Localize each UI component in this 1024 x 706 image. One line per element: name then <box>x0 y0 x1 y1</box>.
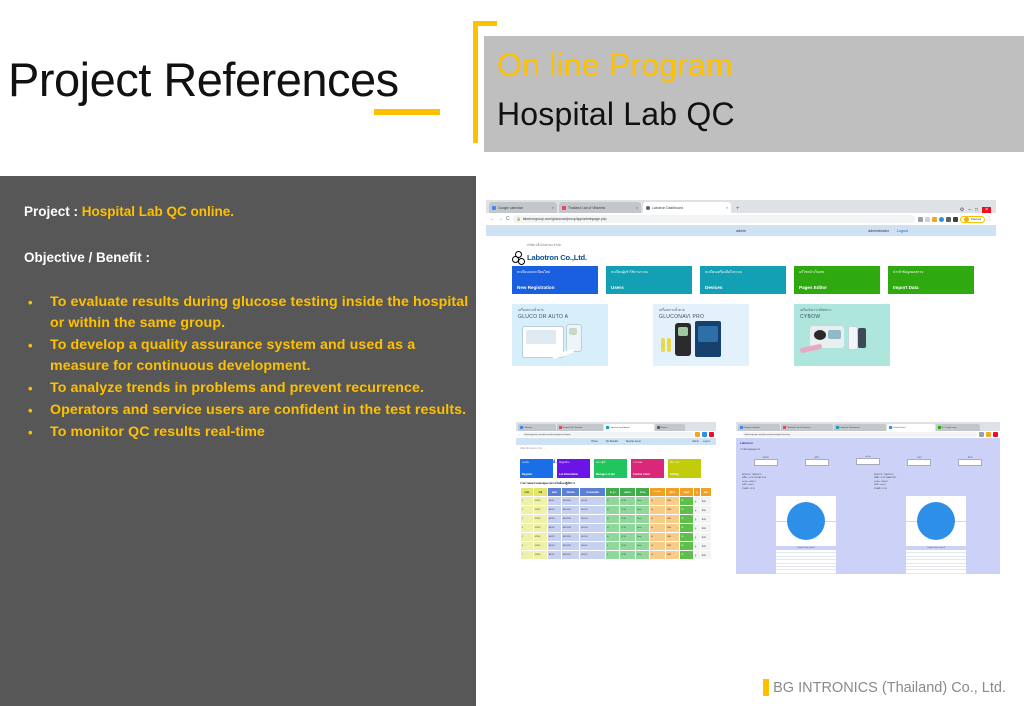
product-image <box>512 320 608 366</box>
logo-thai-name: บริษัท แล็บโบตรอน จำกัด <box>520 447 557 450</box>
browser-tab[interactable]: Hospital QC Results <box>557 424 603 431</box>
product-label: CYBOW <box>794 313 890 320</box>
bullet-text: To analyze trends in problems and preven… <box>50 380 424 396</box>
product-label: GLUCONAVI PRO <box>653 313 749 320</box>
table-cell: 12.55 <box>620 506 636 515</box>
table-cell: A <box>650 533 666 542</box>
window-controls: ⚙ – □ × <box>960 207 993 213</box>
filter-fields: เดือน/ปี เครื่อง Lot No. ระดับ ค้นหา <box>740 456 996 466</box>
table-cell: B02-03 <box>580 515 606 524</box>
filter-month-field[interactable]: เดือน/ปี <box>754 456 778 466</box>
table-header-cell: ลำดับ <box>521 488 534 497</box>
objective-label: Objective / Benefit : <box>24 250 150 265</box>
product-card-gluconavi[interactable]: เครื่องตรวจน้ำตาล GLUCONAVI PRO <box>653 304 749 366</box>
tile-thai-label: จัดการผู้ใช้ <box>596 461 625 464</box>
button-label: New Registration <box>517 285 593 290</box>
table-cell: 2/2565 <box>533 506 547 515</box>
bullet-dot: • <box>28 335 33 356</box>
table-cell: OK <box>679 542 693 551</box>
bullet-text: To monitor QC results real-time <box>50 424 265 440</box>
share-icon[interactable] <box>918 217 923 222</box>
chart-data-blob <box>787 502 825 540</box>
extension-icon[interactable] <box>695 432 700 437</box>
table-cell: A0206 <box>547 542 561 551</box>
nav-item-qc-results[interactable]: QC Results <box>606 440 618 443</box>
footer-accent-bar <box>763 679 769 696</box>
tab-label: Labotron <box>524 427 533 429</box>
view-button[interactable]: ดู <box>693 506 700 515</box>
screenshot-qc-results: Labotron Hospital QC Results Labotron Da… <box>516 422 716 574</box>
tab-label: Labotron Dashboard <box>652 206 683 210</box>
bullet-dot: • <box>28 292 33 313</box>
table-header-row: ลำดับ วันที่ เครื่อง รหัสเครื่อง หมายเลข… <box>521 488 712 497</box>
table-row: 5 2/2565 A0205 B02/3195 B02-05 H 12.55 P… <box>521 533 712 542</box>
print-button[interactable]: พิมพ์ <box>700 515 711 524</box>
product-thai-label: เครื่องตรวจน้ำตาล <box>512 304 608 313</box>
list-item: •To evaluate results during glucose test… <box>20 292 470 334</box>
table-cell: Pass <box>636 497 650 506</box>
reload-icon[interactable]: C <box>506 216 510 222</box>
nav-user-label: admin <box>692 440 699 443</box>
view-button[interactable]: ดู <box>693 542 700 551</box>
field-input[interactable] <box>754 459 778 466</box>
table-cell: B02/3192 <box>561 506 580 515</box>
tile-thai-label: ตั้งค่าระบบ <box>670 461 699 464</box>
button-label: Import Data <box>893 285 969 290</box>
favicon-icon <box>740 426 743 429</box>
screenshot-control-chart: Google calendar Thailand Lab of Vitamins… <box>736 422 1000 574</box>
print-button[interactable]: พิมพ์ <box>700 533 711 542</box>
nav-item-home[interactable]: Home <box>591 440 597 443</box>
product-image <box>653 320 749 366</box>
button-label: Pages Editor <box>799 285 875 290</box>
button-thai-label: ทะเบียนเครื่องมือในระบบ <box>705 270 781 275</box>
table-cell: H <box>606 524 620 533</box>
project-value: Hospital Lab QC online. <box>82 204 234 219</box>
close-icon[interactable]: × <box>552 206 554 210</box>
table-cell: 12.55 <box>620 524 636 533</box>
table-header-cell: พิมพ์ <box>700 488 711 497</box>
table-cell: A0204 <box>547 524 561 533</box>
tile-control-chart[interactable]: รายงานผลControl Chart <box>631 459 664 478</box>
profile-label: Paused <box>971 217 981 221</box>
table-cell: 6 <box>521 542 534 551</box>
table-cell: A <box>650 551 666 560</box>
browser-tab[interactable]: Google calendar × <box>489 202 557 213</box>
info-line: ค่าเฉลี่ย : 12.55 <box>742 488 766 491</box>
table-cell: B02-06 <box>580 542 606 551</box>
tab-label: Google calendar <box>744 427 760 429</box>
table-header-cell: หมายเลขเครื่อง <box>580 488 606 497</box>
chart-info-right: หน่วยงาน : โรงพยาบาล เครื่อง : GLUCONAVI… <box>874 474 896 491</box>
forward-icon[interactable]: → <box>498 216 503 222</box>
table-cell: 12.10 <box>620 542 636 551</box>
filter-device-field[interactable]: เครื่อง <box>805 456 829 466</box>
favicon-icon <box>562 206 566 210</box>
site-nav-bar: Home QC Results Devices & Lot admin Logo… <box>516 438 716 445</box>
tab-label: QC Graph view <box>942 427 957 429</box>
tile-label: Lot Information <box>559 473 588 476</box>
extension-icons: Paused ⋮ <box>918 216 992 223</box>
table-cell: H <box>606 506 620 515</box>
bullet-dot: • <box>28 378 33 399</box>
new-registration-button[interactable]: ทะเบียนลงทะเบียนใหม่ New Registration <box>512 266 598 294</box>
logo-name: Labotron Co.,Ltd. <box>527 253 587 262</box>
labotron-logo: บริษัท แล็บโบตรอน จำกัด Labotron Co.,Ltd… <box>512 244 587 264</box>
table-row: 2 2/2565 A0202 B02/3192 B02-02 H 12.55 P… <box>521 506 712 515</box>
chart-data-table <box>776 550 836 574</box>
browser-tab[interactable]: Report <box>655 424 685 431</box>
favicon-icon <box>889 426 892 429</box>
table-header-cell: ผลสรุป <box>679 488 693 497</box>
footer: BG INTRONICS (Thailand) Co., Ltd. <box>763 679 1006 696</box>
button-label: Users <box>611 285 687 290</box>
admin-action-buttons: ทะเบียนลงทะเบียนใหม่ New Registration ทะ… <box>512 266 974 294</box>
button-thai-label: ทะเบียนผู้เข้าใช้งานระบบ <box>611 270 687 275</box>
close-icon[interactable]: × <box>726 206 728 210</box>
tab-label: Thailand Lab of Vitamins <box>568 206 605 210</box>
browser-tab[interactable]: Thailand Lab of Vitamins <box>781 424 833 431</box>
admin-bar-center-label: admin <box>486 229 996 233</box>
maximize-button[interactable]: □ <box>975 207 978 213</box>
table-cell: Pass <box>636 551 650 560</box>
view-button[interactable]: ดู <box>693 533 700 542</box>
table-cell: 2/2565 <box>533 551 547 560</box>
address-bar[interactable]: labotrongroup.com/gluconavi/proxy/app/re… <box>522 432 693 437</box>
search-button[interactable]: ค้นหา <box>958 456 982 466</box>
browser-tabbar: Labotron Hospital QC Results Labotron Da… <box>516 422 716 431</box>
bullet-text: To evaluate results during glucose testi… <box>50 294 468 331</box>
site-admin-bar: admin administrator Logout <box>486 225 996 236</box>
field-input[interactable] <box>856 458 880 465</box>
favicon-icon <box>646 206 650 210</box>
tile-setting[interactable]: ตั้งค่าระบบSetting <box>668 459 701 478</box>
product-thai-label: เครื่องวิเคราะห์ปัสสาวะ <box>794 304 890 313</box>
extension-icon[interactable] <box>702 432 707 437</box>
tile-label: Manage Lot QC <box>596 473 625 476</box>
table-cell: 1 <box>521 497 534 506</box>
tile-label: Control Chart <box>633 473 662 476</box>
admin-user-label: administrator <box>868 229 889 233</box>
table-cell: A <box>650 524 666 533</box>
browser-tab[interactable]: Labotron <box>518 424 556 431</box>
print-button[interactable]: พิมพ์ <box>700 506 711 515</box>
left-content-panel: Project : Hospital Lab QC online. Object… <box>0 176 476 706</box>
tile-thai-label: ทะเบียน <box>522 461 551 464</box>
browser-tab-active[interactable]: Labotron Dashboard <box>604 424 654 431</box>
table-row: 7 2/2565 A0207 B02/3197 B02-07 L 12.47 P… <box>521 551 712 560</box>
table-cell: B02-05 <box>580 533 606 542</box>
table-cell: 12.55 <box>620 533 636 542</box>
field-input[interactable] <box>958 459 982 466</box>
star-icon[interactable] <box>925 217 930 222</box>
new-tab-button[interactable]: + <box>733 206 743 213</box>
table-cell: 2/2565 <box>533 533 547 542</box>
table-header-cell: ค่า QC <box>606 488 620 497</box>
back-icon[interactable]: ← <box>490 216 495 222</box>
tile-thai-label: รายงานผล <box>633 461 662 464</box>
import-data-button[interactable]: นำเข้าข้อมูลผลตรวจ Import Data <box>888 266 974 294</box>
table-title: รายการผลตรวจสอบคุณภาพภายในห้องปฏิบัติการ <box>520 482 575 486</box>
favicon-icon <box>606 426 609 429</box>
labotron-mark-icon <box>512 251 525 264</box>
address-bar[interactable]: 🔒 labotrongroup.com/gluconavi/proxy/app/… <box>513 215 915 223</box>
tab-label: Labotron Dashboard <box>610 427 630 429</box>
button-thai-label: แก้ไขหน้าเว็บเพจ <box>799 270 875 275</box>
table-cell: OK <box>679 515 693 524</box>
field-input[interactable] <box>907 459 931 466</box>
chart-plot-area <box>776 496 836 546</box>
page-title: Project References <box>8 56 399 103</box>
nav-item-devices[interactable]: Devices & Lot <box>626 440 641 443</box>
browser-tab-active[interactable]: Control Chart <box>887 424 935 431</box>
filter-lot-field[interactable]: Lot No. <box>856 456 880 466</box>
print-button[interactable]: พิมพ์ <box>700 551 711 560</box>
browser-tab[interactable]: Labotron Dashboard <box>834 424 886 431</box>
table-cell: Pass <box>636 515 650 524</box>
table-cell: A <box>650 515 666 524</box>
table-cell: A <box>650 497 666 506</box>
table-cell: L <box>606 551 620 560</box>
qc-tile-row: ทะเบียนRegister ข้อมูลเครื่องLot Informa… <box>520 459 701 478</box>
extension-icon[interactable] <box>986 432 991 437</box>
minimize-button[interactable]: – <box>968 207 971 213</box>
table-cell: 2565 <box>665 542 679 551</box>
list-item: •Operators and service users are confide… <box>20 400 470 421</box>
table-cell: H <box>606 497 620 506</box>
header-subtitle: On line Program <box>497 47 733 84</box>
tile-label: Register <box>522 473 551 476</box>
table-cell: A <box>650 506 666 515</box>
url-text: labotrongroup.com/gluconavi/proxy/app/re… <box>524 434 570 436</box>
qc-results-page-body: บริษัท แล็บโบตรอน จำกัด Labotron Co.,Ltd… <box>516 445 716 574</box>
tile-manage-lot-qc[interactable]: จัดการผู้ใช้Manage Lot QC <box>594 459 627 478</box>
button-label: Devices <box>705 285 781 290</box>
devices-button[interactable]: ทะเบียนเครื่องมือในระบบ Devices <box>700 266 786 294</box>
table-cell: 2565 <box>665 515 679 524</box>
url-text: labotrongroup.com/gluconavi/proxy/app/ch… <box>744 434 790 436</box>
filter-level-field[interactable]: ระดับ <box>907 456 931 466</box>
table-cell: B02-01 <box>580 497 606 506</box>
table-cell: 4 <box>521 524 534 533</box>
browser-tab[interactable]: Google calendar <box>738 424 780 431</box>
qc-results-table: ลำดับ วันที่ เครื่อง รหัสเครื่อง หมายเลข… <box>520 487 712 560</box>
view-button[interactable]: ดู <box>693 551 700 560</box>
table-cell: A0203 <box>547 515 561 524</box>
table-cell: Pass <box>636 542 650 551</box>
favicon-icon <box>836 426 839 429</box>
table-cell: 2565 <box>665 497 679 506</box>
table-header-cell: ผู้ตรวจ <box>665 488 679 497</box>
browser-tab-active[interactable]: Labotron Dashboard × <box>643 202 731 213</box>
tile-thai-label: ข้อมูลเครื่อง <box>559 461 588 464</box>
table-cell: Pass <box>636 506 650 515</box>
view-button[interactable]: ดู <box>693 524 700 533</box>
favicon-icon <box>938 426 941 429</box>
nav-right: admin Logout <box>692 440 710 443</box>
favicon-icon <box>520 426 523 429</box>
table-cell: 2565 <box>665 551 679 560</box>
table-cell: 2565 <box>665 533 679 542</box>
browser-tab[interactable]: Thailand Lab of Vitamins × <box>559 202 641 213</box>
admin-page-body: บริษัท แล็บโบตรอน จำกัด Labotron Co.,Ltd… <box>486 236 996 386</box>
table-cell: 12.47 <box>620 551 636 560</box>
menu-icon[interactable]: ⋮ <box>987 216 992 222</box>
print-button[interactable]: พิมพ์ <box>700 542 711 551</box>
table-cell: B02/3196 <box>561 542 580 551</box>
table-cell: OK <box>679 524 693 533</box>
table-cell: 2/2565 <box>533 515 547 524</box>
table-cell: 2/2565 <box>533 542 547 551</box>
chart-data-table <box>906 550 966 574</box>
table-cell: B02-02 <box>580 506 606 515</box>
table-cell: B02-07 <box>580 551 606 560</box>
logout-link[interactable]: Logout <box>897 229 908 233</box>
favicon-icon <box>559 426 562 429</box>
favicon-icon <box>492 206 496 210</box>
table-cell: A0202 <box>547 506 561 515</box>
table-cell: 2 <box>521 506 534 515</box>
table-cell: H <box>606 515 620 524</box>
table-cell: A0207 <box>547 551 561 560</box>
back-icon[interactable]: ← <box>738 433 740 436</box>
table-cell: 5 <box>521 533 534 542</box>
title-underline <box>374 109 440 115</box>
address-bar[interactable]: labotrongroup.com/gluconavi/proxy/app/ch… <box>742 432 977 437</box>
product-card-gluco-dr[interactable]: เครื่องตรวจน้ำตาล GLUCO DR AUTO A <box>512 304 608 366</box>
table-cell: B02-04 <box>580 524 606 533</box>
table-cell: L <box>606 542 620 551</box>
project-label: Project : <box>24 204 78 219</box>
view-button[interactable]: ดู <box>693 515 700 524</box>
browser-chrome: Google calendar × Thailand Lab of Vitami… <box>486 200 996 225</box>
table-cell: 12.55 <box>620 497 636 506</box>
table-header-cell: สถานะ <box>636 488 650 497</box>
logout-link[interactable]: Logout <box>703 440 710 443</box>
browser-tabbar: Google calendar × Thailand Lab of Vitami… <box>486 200 996 213</box>
table-cell: 7 <box>521 551 534 560</box>
extension-icon[interactable] <box>946 217 951 222</box>
table-cell: OK <box>679 551 693 560</box>
table-cell: 2/2565 <box>533 524 547 533</box>
table-header-cell: วันที่ <box>533 488 547 497</box>
pages-editor-button[interactable]: แก้ไขหน้าเว็บเพจ Pages Editor <box>794 266 880 294</box>
table-cell: A0205 <box>547 533 561 542</box>
product-label: GLUCO DR AUTO A <box>512 313 608 320</box>
table-header-cell: Lot No. <box>650 488 666 497</box>
list-item: •To monitor QC results real-time <box>20 422 470 443</box>
table-cell: B02/3193 <box>561 515 580 524</box>
table-row: 6 2/2565 A0206 B02/3196 B02-06 L 12.10 P… <box>521 542 712 551</box>
control-chart-level-2: Control Chart Level 2 <box>906 496 966 574</box>
tab-label: Google calendar <box>498 206 523 210</box>
table-cell: 2565 <box>665 506 679 515</box>
product-card-row: เครื่องตรวจน้ำตาล GLUCO DR AUTO A เครื่อ… <box>512 304 890 366</box>
logo-thai-name: บริษัท แล็บโบตรอน จำกัด <box>527 244 587 247</box>
slide-root: Project References On line Program Hospi… <box>0 0 1024 706</box>
view-button[interactable]: ดู <box>693 497 700 506</box>
browser-tabbar: Google calendar Thailand Lab of Vitamins… <box>736 422 1000 431</box>
chart-info-left: หน่วยงาน : โรงพยาบาล เครื่อง : GLUCO DR … <box>742 474 766 491</box>
browser-urlbar: ← → C 🔒 labotrongroup.com/gluconavi/prox… <box>486 213 996 225</box>
chart-data-blob <box>917 502 955 540</box>
table-cell: B02/3195 <box>561 533 580 542</box>
table-cell: A0201 <box>547 497 561 506</box>
close-window-button[interactable] <box>709 432 714 437</box>
tab-label: Hospital QC Results <box>563 427 583 429</box>
table-cell: B02/3197 <box>561 551 580 560</box>
gear-icon[interactable]: ⚙ <box>960 207 964 213</box>
browser-tab[interactable]: QC Graph view <box>936 424 980 431</box>
table-cell: Pass <box>636 533 650 542</box>
tab-label: Thailand Lab of Vitamins <box>787 427 811 429</box>
header-title: Hospital Lab QC <box>497 96 735 133</box>
table-cell: Pass <box>636 524 650 533</box>
control-chart-level-1: Control Chart Level 1 <box>776 496 836 574</box>
close-window-button[interactable] <box>993 432 998 437</box>
back-icon[interactable]: ← <box>518 433 520 436</box>
table-cell: 2/2565 <box>533 497 547 506</box>
button-thai-label: นำเข้าข้อมูลผลตรวจ <box>893 270 969 275</box>
table-row: 3 2/2565 A0203 B02/3193 B02-03 H 12.55 P… <box>521 515 712 524</box>
users-button[interactable]: ทะเบียนผู้เข้าใช้งานระบบ Users <box>606 266 692 294</box>
browser-urlbar: ← labotrongroup.com/gluconavi/proxy/app/… <box>736 431 1000 438</box>
print-button[interactable]: พิมพ์ <box>700 497 711 506</box>
lock-icon: 🔒 <box>517 217 521 221</box>
objective-bullet-list: •To evaluate results during glucose test… <box>20 292 470 444</box>
table-cell: 12.55 <box>620 515 636 524</box>
control-chart-page-body: Labotron กราฟควบคุมคุณภาพ เดือน/ปี เครื่… <box>736 438 1000 574</box>
browser-urlbar: ← labotrongroup.com/gluconavi/proxy/app/… <box>516 431 716 438</box>
favicon-icon <box>783 426 786 429</box>
field-input[interactable] <box>805 459 829 466</box>
bullet-dot: • <box>28 422 33 443</box>
table-cell: B02/3191 <box>561 497 580 506</box>
url-text: labotrongroup.com/gluconavi/proxy/app/ad… <box>523 217 607 221</box>
chart-plot-area <box>906 496 966 546</box>
table-header-cell: รหัสเครื่อง <box>561 488 580 497</box>
close-window-button[interactable]: × <box>982 207 991 213</box>
tab-label: Control Chart <box>893 427 906 429</box>
tile-register[interactable]: ทะเบียนRegister <box>520 459 553 478</box>
extension-icon[interactable] <box>979 432 984 437</box>
button-thai-label: ทะเบียนลงทะเบียนใหม่ <box>517 270 593 275</box>
tab-label: Report <box>661 427 668 429</box>
accent-bracket-horizontal <box>473 21 497 26</box>
table-cell: A <box>650 542 666 551</box>
page-brand-title: Labotron <box>740 441 753 445</box>
table-cell: 2565 <box>665 524 679 533</box>
extension-icon[interactable] <box>932 217 937 222</box>
extension-icon[interactable] <box>939 217 944 222</box>
tab-label: Labotron Dashboard <box>840 427 860 429</box>
product-card-cybow[interactable]: เครื่องวิเคราะห์ปัสสาวะ CYBOW <box>794 304 890 366</box>
tile-label: Setting <box>670 473 699 476</box>
print-button[interactable]: พิมพ์ <box>700 524 711 533</box>
close-icon[interactable]: × <box>636 206 638 210</box>
tile-lot-information[interactable]: ข้อมูลเครื่องLot Information <box>557 459 590 478</box>
list-item: •To develop a quality assurance system a… <box>20 335 470 377</box>
extension-icon[interactable] <box>953 217 958 222</box>
table-row: 1 2/2565 A0201 B02/3191 B02-01 H 12.55 P… <box>521 497 712 506</box>
accent-bracket-vertical <box>473 21 478 143</box>
avatar <box>964 217 969 222</box>
bullet-text: Operators and service users are confiden… <box>50 402 466 418</box>
table-cell: H <box>606 533 620 542</box>
table-header-cell: เครื่อง <box>547 488 561 497</box>
footer-company-name: BG INTRONICS (Thailand) Co., Ltd. <box>773 680 1006 696</box>
profile-button[interactable]: Paused <box>960 216 985 223</box>
